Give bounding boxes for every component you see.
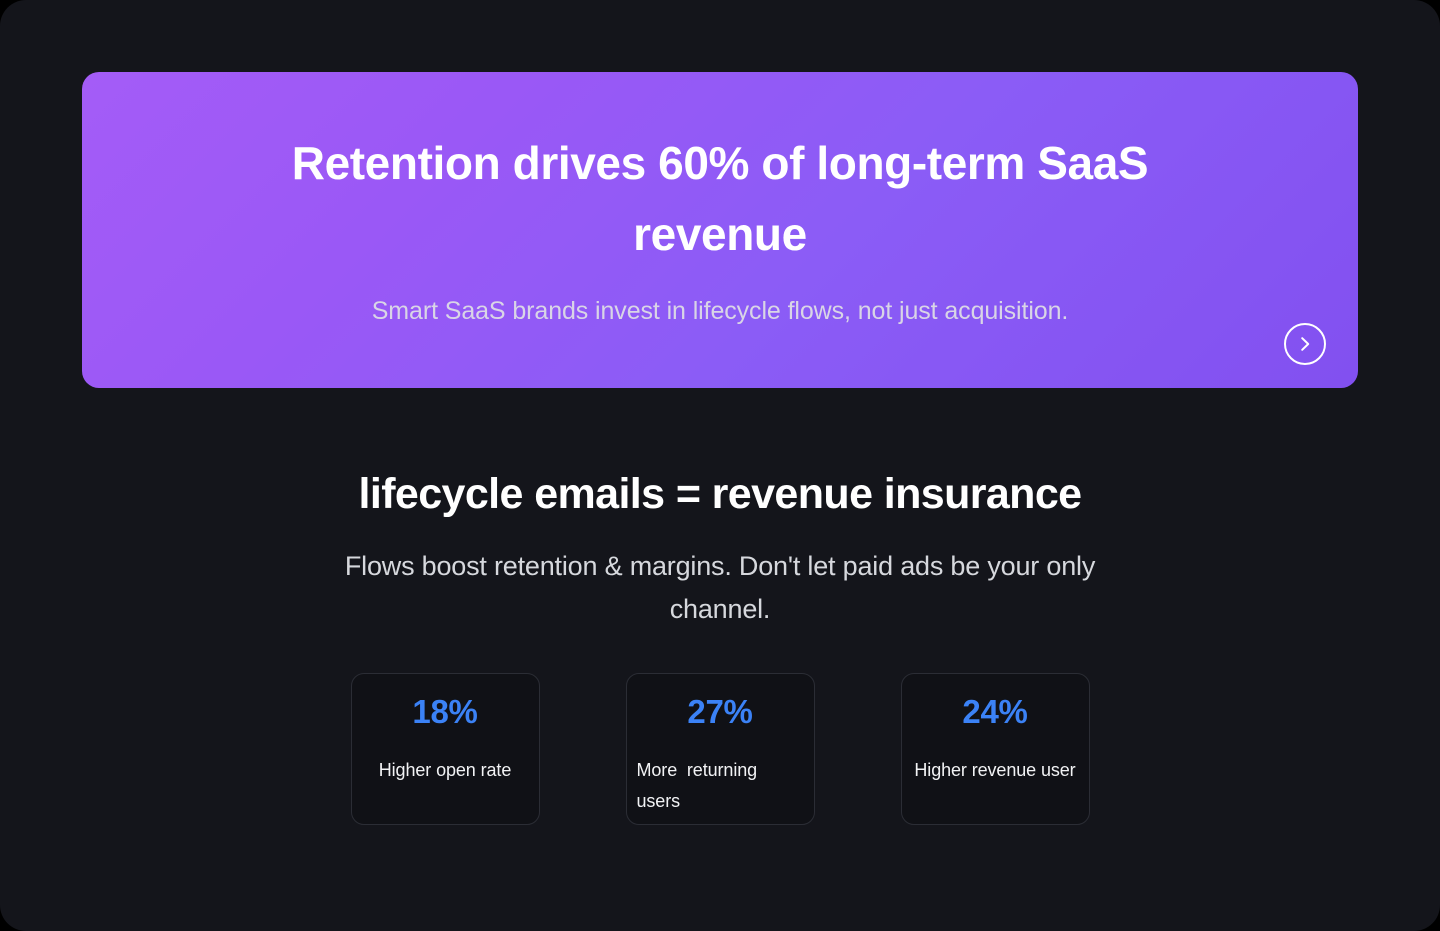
slide-canvas: Retention drives 60% of long-term SaaS r… [0, 0, 1440, 931]
next-slide-button[interactable] [1284, 323, 1326, 365]
hero-title: Retention drives 60% of long-term SaaS r… [215, 128, 1225, 270]
stat-card: 24% Higher revenue user [901, 673, 1090, 825]
chevron-right-icon [1295, 334, 1315, 354]
stat-label: Higher open rate [379, 755, 512, 786]
hero-subtitle: Smart SaaS brands invest in lifecycle fl… [195, 294, 1245, 328]
hero-text-block: Retention drives 60% of long-term SaaS r… [82, 128, 1358, 328]
stat-value: 18% [412, 692, 477, 732]
stat-label: Higher revenue user [914, 755, 1075, 786]
stats-row: 18% Higher open rate 27% More returning … [0, 673, 1440, 825]
stat-value: 24% [962, 692, 1027, 732]
stat-label: More returning users [637, 755, 804, 817]
stat-card: 27% More returning users [626, 673, 815, 825]
content-section: lifecycle emails = revenue insurance Flo… [0, 466, 1440, 631]
stat-card: 18% Higher open rate [351, 673, 540, 825]
section-heading: lifecycle emails = revenue insurance [0, 466, 1440, 523]
hero-banner: Retention drives 60% of long-term SaaS r… [82, 72, 1358, 388]
stat-value: 27% [687, 692, 752, 732]
section-body-text: Flows boost retention & margins. Don't l… [300, 545, 1140, 631]
